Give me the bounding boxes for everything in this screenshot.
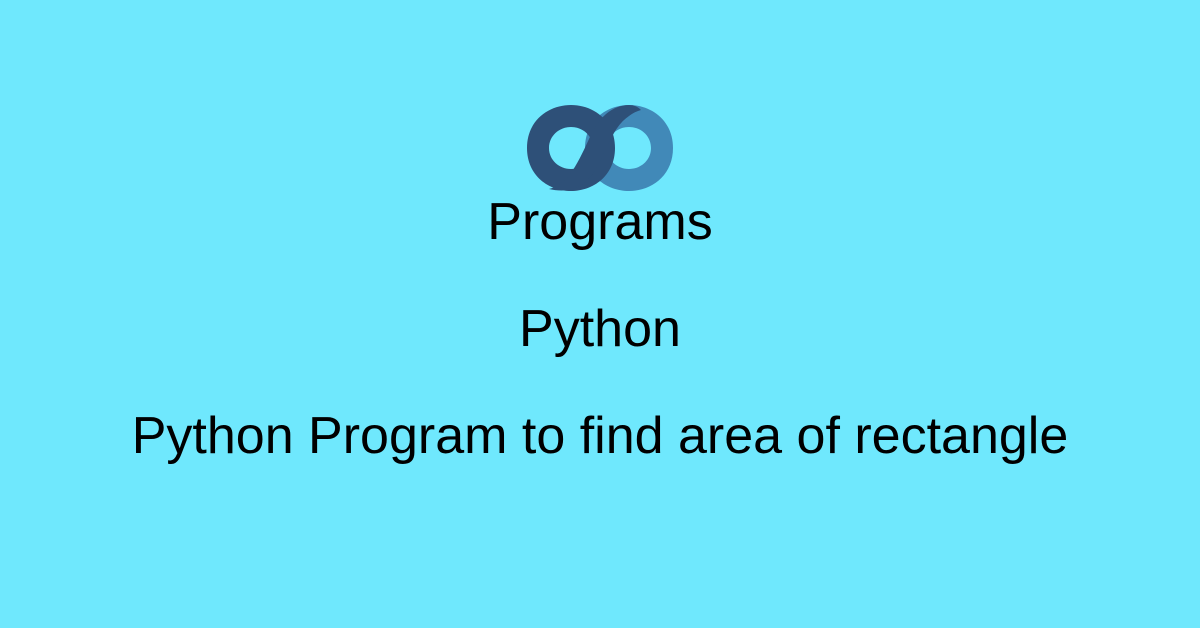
brand-label: Programs	[0, 195, 1200, 250]
text-block: Programs Python Python Program to find a…	[0, 195, 1200, 464]
logo-container	[0, 100, 1200, 195]
category-label: Python	[0, 302, 1200, 357]
social-preview-card: Programs Python Python Program to find a…	[0, 0, 1200, 628]
page-title: Python Program to find area of rectangle	[0, 409, 1200, 464]
infinity-loops-logo	[525, 103, 675, 193]
